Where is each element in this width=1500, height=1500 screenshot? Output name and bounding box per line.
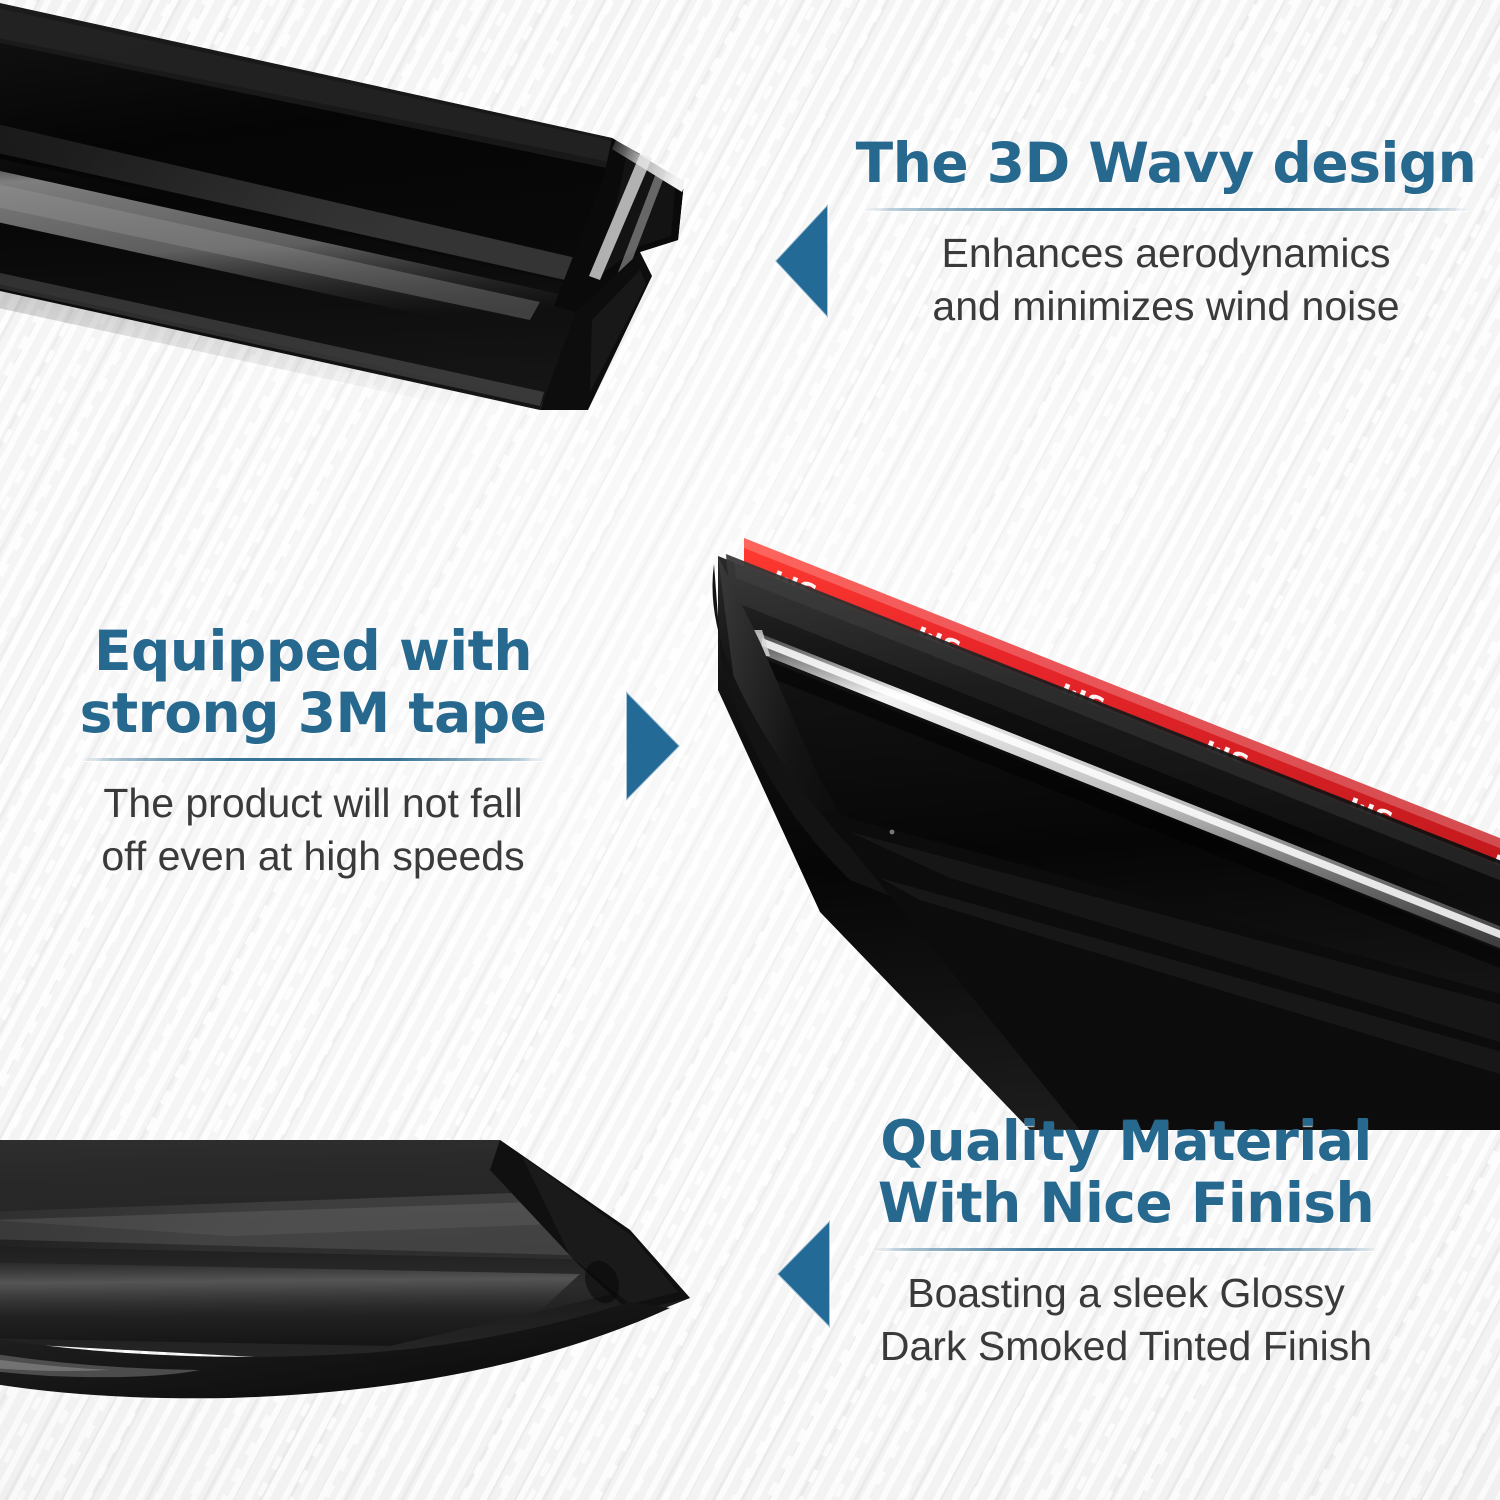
product-infographic: 3M 3M 3M 3M 3M 3M	[0, 0, 1500, 1500]
callout-divider	[864, 208, 1468, 211]
callout-subtext-line1: Boasting a sleek Glossy	[866, 1267, 1386, 1320]
callout-subtext: Enhances aerodynamics and minimizes wind…	[846, 227, 1486, 333]
callout-strong-3m-tape: Equipped with strong 3M tape The product…	[74, 620, 552, 883]
product-image-visor-with-3m-tape: 3M 3M 3M 3M 3M 3M	[700, 480, 1500, 1130]
callout-headline-line2: With Nice Finish	[866, 1172, 1386, 1234]
callout-divider	[82, 758, 544, 761]
callout-quality-material: Quality Material With Nice Finish Boasti…	[866, 1110, 1386, 1373]
callout-subtext-line1: Enhances aerodynamics	[846, 227, 1486, 280]
callout-headline-line1: Quality Material	[866, 1110, 1386, 1172]
callout-subtext-line2: and minimizes wind noise	[846, 280, 1486, 333]
callout-subtext-line1: The product will not fall	[74, 777, 552, 830]
callout-headline: The 3D Wavy design	[846, 132, 1486, 194]
callout-divider	[874, 1248, 1378, 1251]
product-image-visor-bottom	[0, 1140, 770, 1480]
callout-arrow-right-tape	[620, 688, 684, 809]
callout-headline: Quality Material With Nice Finish	[866, 1110, 1386, 1234]
product-image-visor-top	[0, 0, 760, 480]
callout-3d-wavy-design: The 3D Wavy design Enhances aerodynamics…	[846, 132, 1486, 333]
callout-headline-line1: Equipped with	[74, 620, 552, 682]
callout-subtext-line2: Dark Smoked Tinted Finish	[866, 1320, 1386, 1373]
callout-subtext-line2: off even at high speeds	[74, 830, 552, 883]
callout-subtext: The product will not fall off even at hi…	[74, 777, 552, 883]
callout-arrow-left-quality	[774, 1218, 836, 1335]
callout-arrow-left-wavy	[772, 202, 834, 325]
callout-headline-line2: strong 3M tape	[74, 682, 552, 744]
callout-subtext: Boasting a sleek Glossy Dark Smoked Tint…	[866, 1267, 1386, 1373]
callout-headline: Equipped with strong 3M tape	[74, 620, 552, 744]
